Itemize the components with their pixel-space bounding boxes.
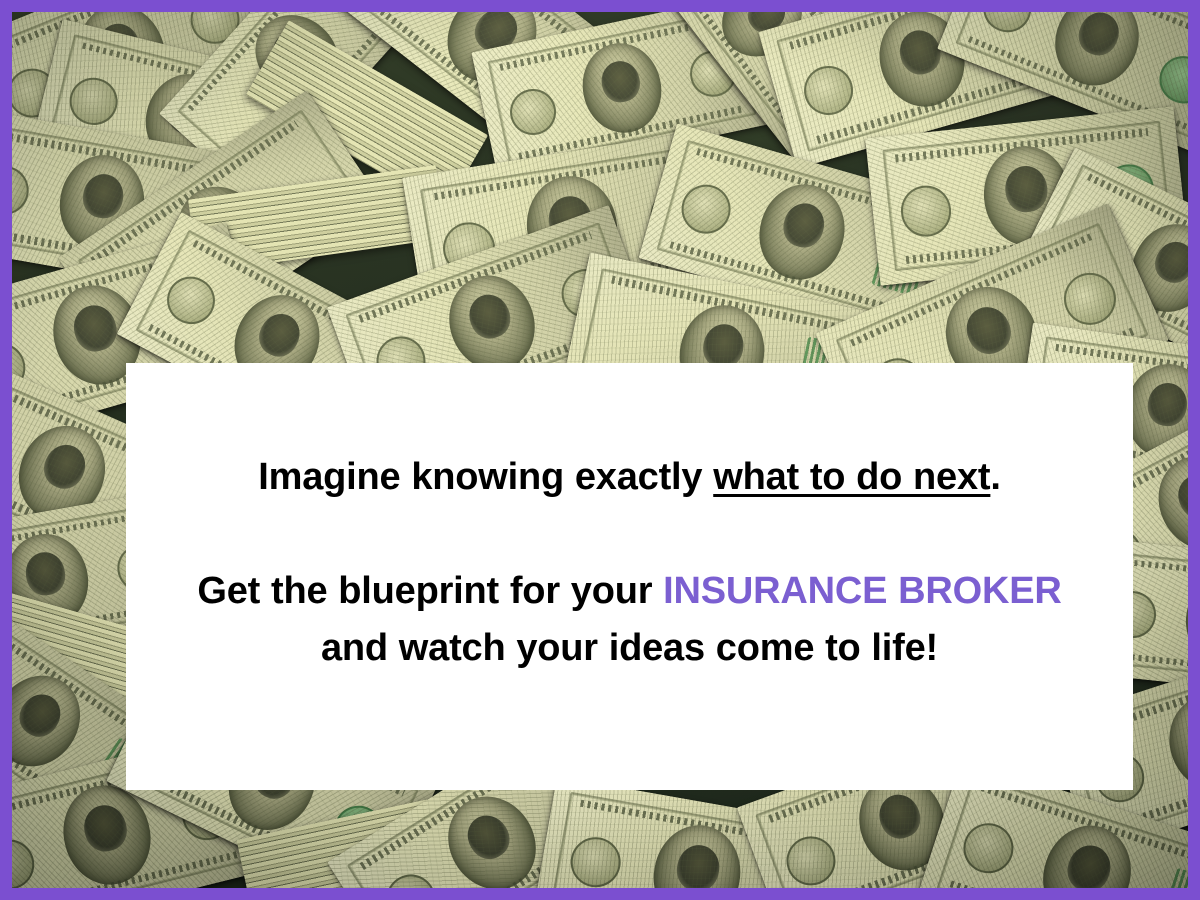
text-card: Imagine knowing exactly what to do next.… bbox=[126, 363, 1133, 790]
slide: Imagine knowing exactly what to do next.… bbox=[0, 0, 1200, 900]
subline-run-accent: INSURANCE BROKER bbox=[663, 570, 1061, 612]
subline-run-plain-2: and watch your ideas come to life! bbox=[321, 627, 938, 669]
headline-run-plain-1: Imagine knowing exactly bbox=[258, 456, 713, 498]
subline-run-plain-1: Get the blueprint for your bbox=[197, 570, 663, 612]
headline-paragraph: Imagine knowing exactly what to do next. bbox=[160, 449, 1099, 506]
headline-run-period: . bbox=[990, 456, 1000, 498]
subline-paragraph: Get the blueprint for your INSURANCE BRO… bbox=[160, 563, 1099, 677]
headline-run-underlined: what to do next bbox=[713, 456, 990, 498]
